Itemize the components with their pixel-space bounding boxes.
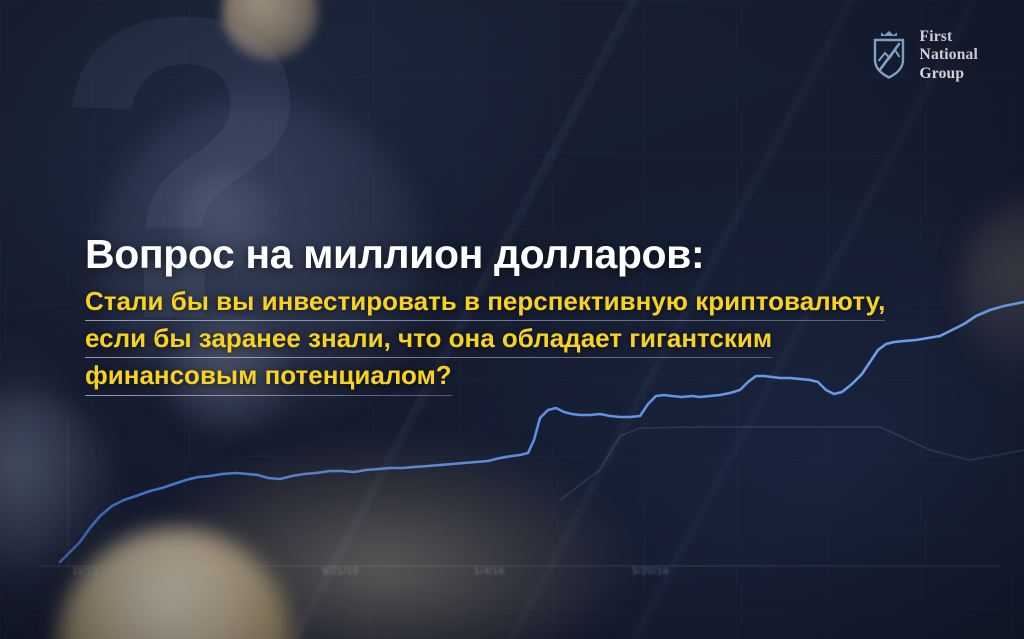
bokeh-circle xyxy=(960,196,1024,386)
axis-tick-label: 8/21/15 xyxy=(322,566,359,577)
brand-logo[interactable]: First National Group xyxy=(869,28,978,83)
subheadline: Стали бы вы инвестировать в перспективну… xyxy=(85,284,885,395)
subheadline-line: если бы заранее знали, что она обладает … xyxy=(85,321,772,358)
slide-canvas: ? 11/13 4/8/15 8/21/15 1/4/16 5/20/16 xyxy=(0,0,1024,639)
subheadline-line: Стали бы вы инвестировать в перспективну… xyxy=(85,284,885,321)
bokeh-portrait-blur xyxy=(58,528,293,639)
shield-crown-icon xyxy=(869,29,909,81)
bokeh-circle xyxy=(0,330,80,630)
axis-tick-label: 5/20/16 xyxy=(632,566,669,577)
axis-tick-label: 1/4/16 xyxy=(474,566,505,577)
axis-tick-label: 4/8/15 xyxy=(192,566,223,577)
bokeh-portrait-blur xyxy=(820,556,990,639)
bokeh-foreground-blur xyxy=(170,440,630,639)
logo-wordmark: First National Group xyxy=(920,28,978,83)
chart-axis-tick-labels: 11/13 4/8/15 8/21/15 1/4/16 5/20/16 xyxy=(0,566,1024,586)
page-title: Вопрос на миллион долларов: xyxy=(85,232,885,276)
bokeh-portrait-blur xyxy=(222,0,318,60)
logo-line-1: First xyxy=(920,28,978,46)
logo-line-2: National xyxy=(920,46,978,64)
axis-tick-label: 11/13 xyxy=(72,566,99,577)
logo-line-3: Group xyxy=(920,65,978,83)
chart-faint-series xyxy=(560,427,1024,500)
bokeh-circle xyxy=(0,392,115,577)
subheadline-line: финансовым потенциалом? xyxy=(85,358,452,395)
headline-block: Вопрос на миллион долларов: Стали бы вы … xyxy=(85,232,885,396)
